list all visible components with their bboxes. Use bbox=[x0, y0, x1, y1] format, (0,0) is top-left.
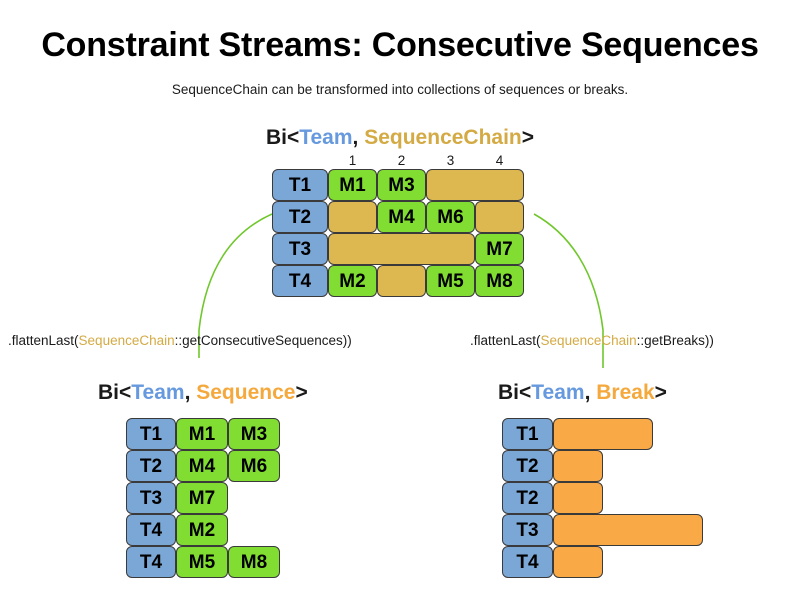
bl-team-cell-T4-4-label: T4 bbox=[140, 553, 162, 572]
br-heading-separator: , bbox=[585, 381, 597, 404]
bl-heading-prefix: Bi< bbox=[98, 381, 131, 404]
br-team-cell-T2-2-label: T2 bbox=[516, 489, 538, 508]
br-heading-generic-team: Team bbox=[531, 381, 584, 404]
top-match-cell-M3: M3 bbox=[377, 169, 426, 201]
br-heading-suffix: > bbox=[655, 381, 667, 404]
bl-match-cell-M5-label: M5 bbox=[189, 553, 215, 572]
top-team-cell-T1-label: T1 bbox=[289, 176, 311, 195]
br-break-bar-T3-3 bbox=[553, 514, 703, 546]
column-header-3: 3 bbox=[426, 153, 475, 168]
top-match-cell-M1-label: M1 bbox=[339, 176, 365, 195]
br-break-bar-T4-4 bbox=[553, 546, 603, 578]
top-match-cell-M4: M4 bbox=[377, 201, 426, 233]
top-heading-generic-team: Team bbox=[299, 126, 352, 149]
bl-match-cell-M3: M3 bbox=[228, 418, 280, 450]
top-chain-gap-T2-0 bbox=[328, 201, 377, 233]
top-match-cell-M7-label: M7 bbox=[486, 240, 512, 259]
top-team-cell-T4-label: T4 bbox=[289, 272, 311, 291]
top-match-cell-M5-label: M5 bbox=[437, 272, 463, 291]
br-team-cell-T3-3: T3 bbox=[502, 514, 553, 546]
top-chain-gap-T2-3 bbox=[475, 201, 524, 233]
bl-team-cell-T4-3: T4 bbox=[126, 514, 176, 546]
br-heading-prefix: Bi< bbox=[498, 381, 531, 404]
top-heading-suffix: > bbox=[522, 126, 534, 149]
br-heading-generic-break: Break bbox=[596, 381, 654, 404]
flatten-left-type: SequenceChain bbox=[79, 333, 175, 348]
top-match-cell-M6: M6 bbox=[426, 201, 475, 233]
bl-team-cell-T3-2: T3 bbox=[126, 482, 176, 514]
column-header-1: 1 bbox=[328, 153, 377, 168]
top-match-cell-M6-label: M6 bbox=[437, 208, 463, 227]
top-team-cell-T2-label: T2 bbox=[289, 208, 311, 227]
bl-match-cell-M8: M8 bbox=[228, 546, 280, 578]
top-team-cell-T2: T2 bbox=[272, 201, 328, 233]
bl-match-cell-M2: M2 bbox=[176, 514, 228, 546]
page-title: Constraint Streams: Consecutive Sequence… bbox=[0, 26, 800, 65]
bl-heading-generic-team: Team bbox=[131, 381, 184, 404]
top-team-cell-T3: T3 bbox=[272, 233, 328, 265]
flatten-label-left: .flattenLast(SequenceChain::getConsecuti… bbox=[8, 333, 352, 348]
page-subtitle: SequenceChain can be transformed into co… bbox=[0, 82, 800, 97]
top-match-cell-M8: M8 bbox=[475, 265, 524, 297]
br-team-cell-T4-4-label: T4 bbox=[516, 553, 538, 572]
bl-team-cell-T4-4: T4 bbox=[126, 546, 176, 578]
br-team-cell-T2-2: T2 bbox=[502, 482, 553, 514]
flatten-left-method: ::getConsecutiveSequences)) bbox=[175, 333, 352, 348]
bl-team-cell-T4-3-label: T4 bbox=[140, 521, 162, 540]
top-match-cell-M8-label: M8 bbox=[486, 272, 512, 291]
bl-match-cell-M1-label: M1 bbox=[189, 425, 215, 444]
top-match-cell-M7: M7 bbox=[475, 233, 524, 265]
top-match-cell-M2-label: M2 bbox=[339, 272, 365, 291]
flatten-right-type: SequenceChain bbox=[541, 333, 637, 348]
bl-match-cell-M3-label: M3 bbox=[241, 425, 267, 444]
top-team-cell-T3-label: T3 bbox=[289, 240, 311, 259]
top-match-cell-M4-label: M4 bbox=[388, 208, 414, 227]
column-header-4: 4 bbox=[475, 153, 524, 168]
bl-match-cell-M6-label: M6 bbox=[241, 457, 267, 476]
column-header-2: 2 bbox=[377, 153, 426, 168]
bl-heading-separator: , bbox=[185, 381, 197, 404]
br-break-bar-T1-0 bbox=[553, 418, 653, 450]
top-team-cell-T4: T4 bbox=[272, 265, 328, 297]
flatten-right-method: ::getBreaks)) bbox=[637, 333, 714, 348]
top-heading-generic-chain: SequenceChain bbox=[364, 126, 522, 149]
br-team-cell-T3-3-label: T3 bbox=[516, 521, 538, 540]
br-team-cell-T2-1: T2 bbox=[502, 450, 553, 482]
bl-match-cell-M4-label: M4 bbox=[189, 457, 215, 476]
bl-team-cell-T1-0-label: T1 bbox=[140, 425, 162, 444]
bl-match-cell-M7: M7 bbox=[176, 482, 228, 514]
top-match-cell-M5: M5 bbox=[426, 265, 475, 297]
br-break-bar-T2-2 bbox=[553, 482, 603, 514]
top-chain-gap-T4-1 bbox=[377, 265, 426, 297]
top-type-heading: Bi<Team, SequenceChain> bbox=[0, 126, 800, 150]
bl-heading-generic-sequence: Sequence bbox=[196, 381, 295, 404]
top-match-cell-M2: M2 bbox=[328, 265, 377, 297]
bl-team-cell-T3-2-label: T3 bbox=[140, 489, 162, 508]
bl-match-cell-M8-label: M8 bbox=[241, 553, 267, 572]
top-match-cell-M3-label: M3 bbox=[388, 176, 414, 195]
bl-team-cell-T2-1-label: T2 bbox=[140, 457, 162, 476]
top-match-cell-M1: M1 bbox=[328, 169, 377, 201]
bottom-left-type-heading: Bi<Team, Sequence> bbox=[98, 381, 308, 405]
bl-match-cell-M4: M4 bbox=[176, 450, 228, 482]
br-team-cell-T1-0-label: T1 bbox=[516, 425, 538, 444]
top-heading-prefix: Bi< bbox=[266, 126, 299, 149]
br-team-cell-T2-1-label: T2 bbox=[516, 457, 538, 476]
top-heading-separator: , bbox=[353, 126, 365, 149]
bl-match-cell-M7-label: M7 bbox=[189, 489, 215, 508]
top-team-cell-T1: T1 bbox=[272, 169, 328, 201]
bl-match-cell-M1: M1 bbox=[176, 418, 228, 450]
bl-match-cell-M5: M5 bbox=[176, 546, 228, 578]
top-chain-gap-T1-2 bbox=[426, 169, 524, 201]
bl-match-cell-M6: M6 bbox=[228, 450, 280, 482]
br-team-cell-T1-0: T1 bbox=[502, 418, 553, 450]
bl-heading-suffix: > bbox=[295, 381, 307, 404]
slide-canvas: Constraint Streams: Consecutive Sequence… bbox=[0, 0, 800, 600]
bottom-right-type-heading: Bi<Team, Break> bbox=[498, 381, 667, 405]
br-break-bar-T2-1 bbox=[553, 450, 603, 482]
br-team-cell-T4-4: T4 bbox=[502, 546, 553, 578]
flatten-label-right: .flattenLast(SequenceChain::getBreaks)) bbox=[470, 333, 714, 348]
top-chain-gap-T3-0 bbox=[328, 233, 475, 265]
bl-team-cell-T2-1: T2 bbox=[126, 450, 176, 482]
bl-team-cell-T1-0: T1 bbox=[126, 418, 176, 450]
bl-match-cell-M2-label: M2 bbox=[189, 521, 215, 540]
flatten-left-prefix: .flattenLast( bbox=[8, 333, 79, 348]
flatten-right-prefix: .flattenLast( bbox=[470, 333, 541, 348]
